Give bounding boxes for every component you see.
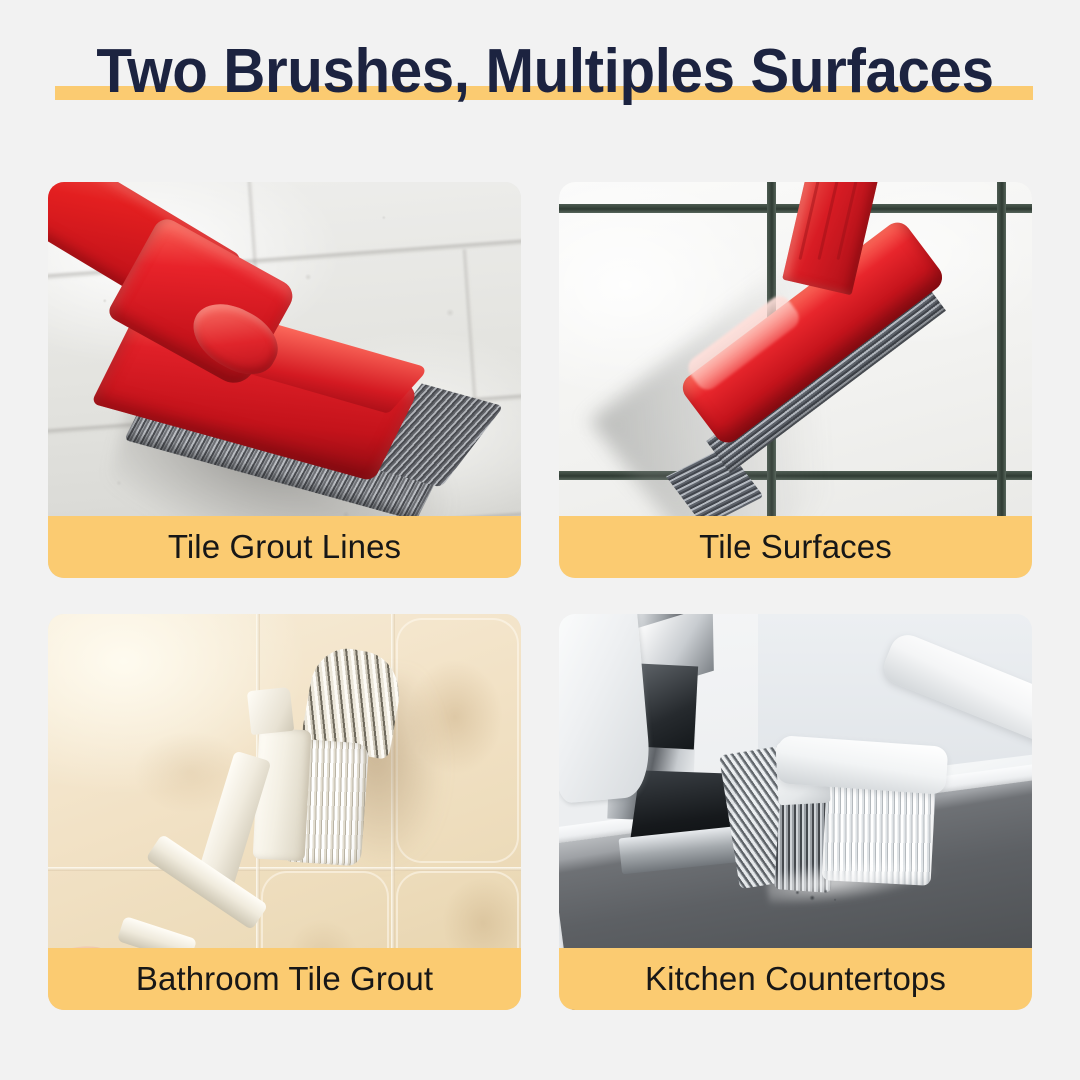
card-caption-text: Bathroom Tile Grout [136, 960, 433, 998]
faucet-lever [559, 614, 652, 804]
card-caption-band: Kitchen Countertops [559, 948, 1032, 1010]
grout-line-horizontal [559, 204, 1032, 213]
card-caption-text: Kitchen Countertops [645, 960, 946, 998]
header: Two Brushes, Multiples Surfaces [0, 0, 1080, 152]
feature-card-kitchen-countertops[interactable]: Kitchen Countertops [559, 614, 1032, 1010]
card-caption-band: Tile Grout Lines [48, 516, 521, 578]
feature-card-tile-surfaces[interactable]: Tile Surfaces [559, 182, 1032, 578]
card-caption-text: Tile Surfaces [699, 528, 892, 566]
feature-card-tile-grout-lines[interactable]: Tile Grout Lines [48, 182, 521, 578]
debris-particles [786, 883, 843, 907]
card-caption-band: Tile Surfaces [559, 516, 1032, 578]
grout-line-horizontal [48, 867, 521, 871]
brush-hook [247, 687, 294, 735]
card-caption-text: Tile Grout Lines [168, 528, 401, 566]
page-title: Two Brushes, Multiples Surfaces [50, 34, 1040, 114]
feature-grid: Tile Grout Lines Tile Surfaces [48, 182, 1032, 1010]
page-title-text: Two Brushes, Multiples Surfaces [80, 34, 1011, 110]
brush-head-white [253, 728, 312, 861]
card-caption-band: Bathroom Tile Grout [48, 948, 521, 1010]
feature-card-bathroom-tile-grout[interactable]: Bathroom Tile Grout [48, 614, 521, 1010]
